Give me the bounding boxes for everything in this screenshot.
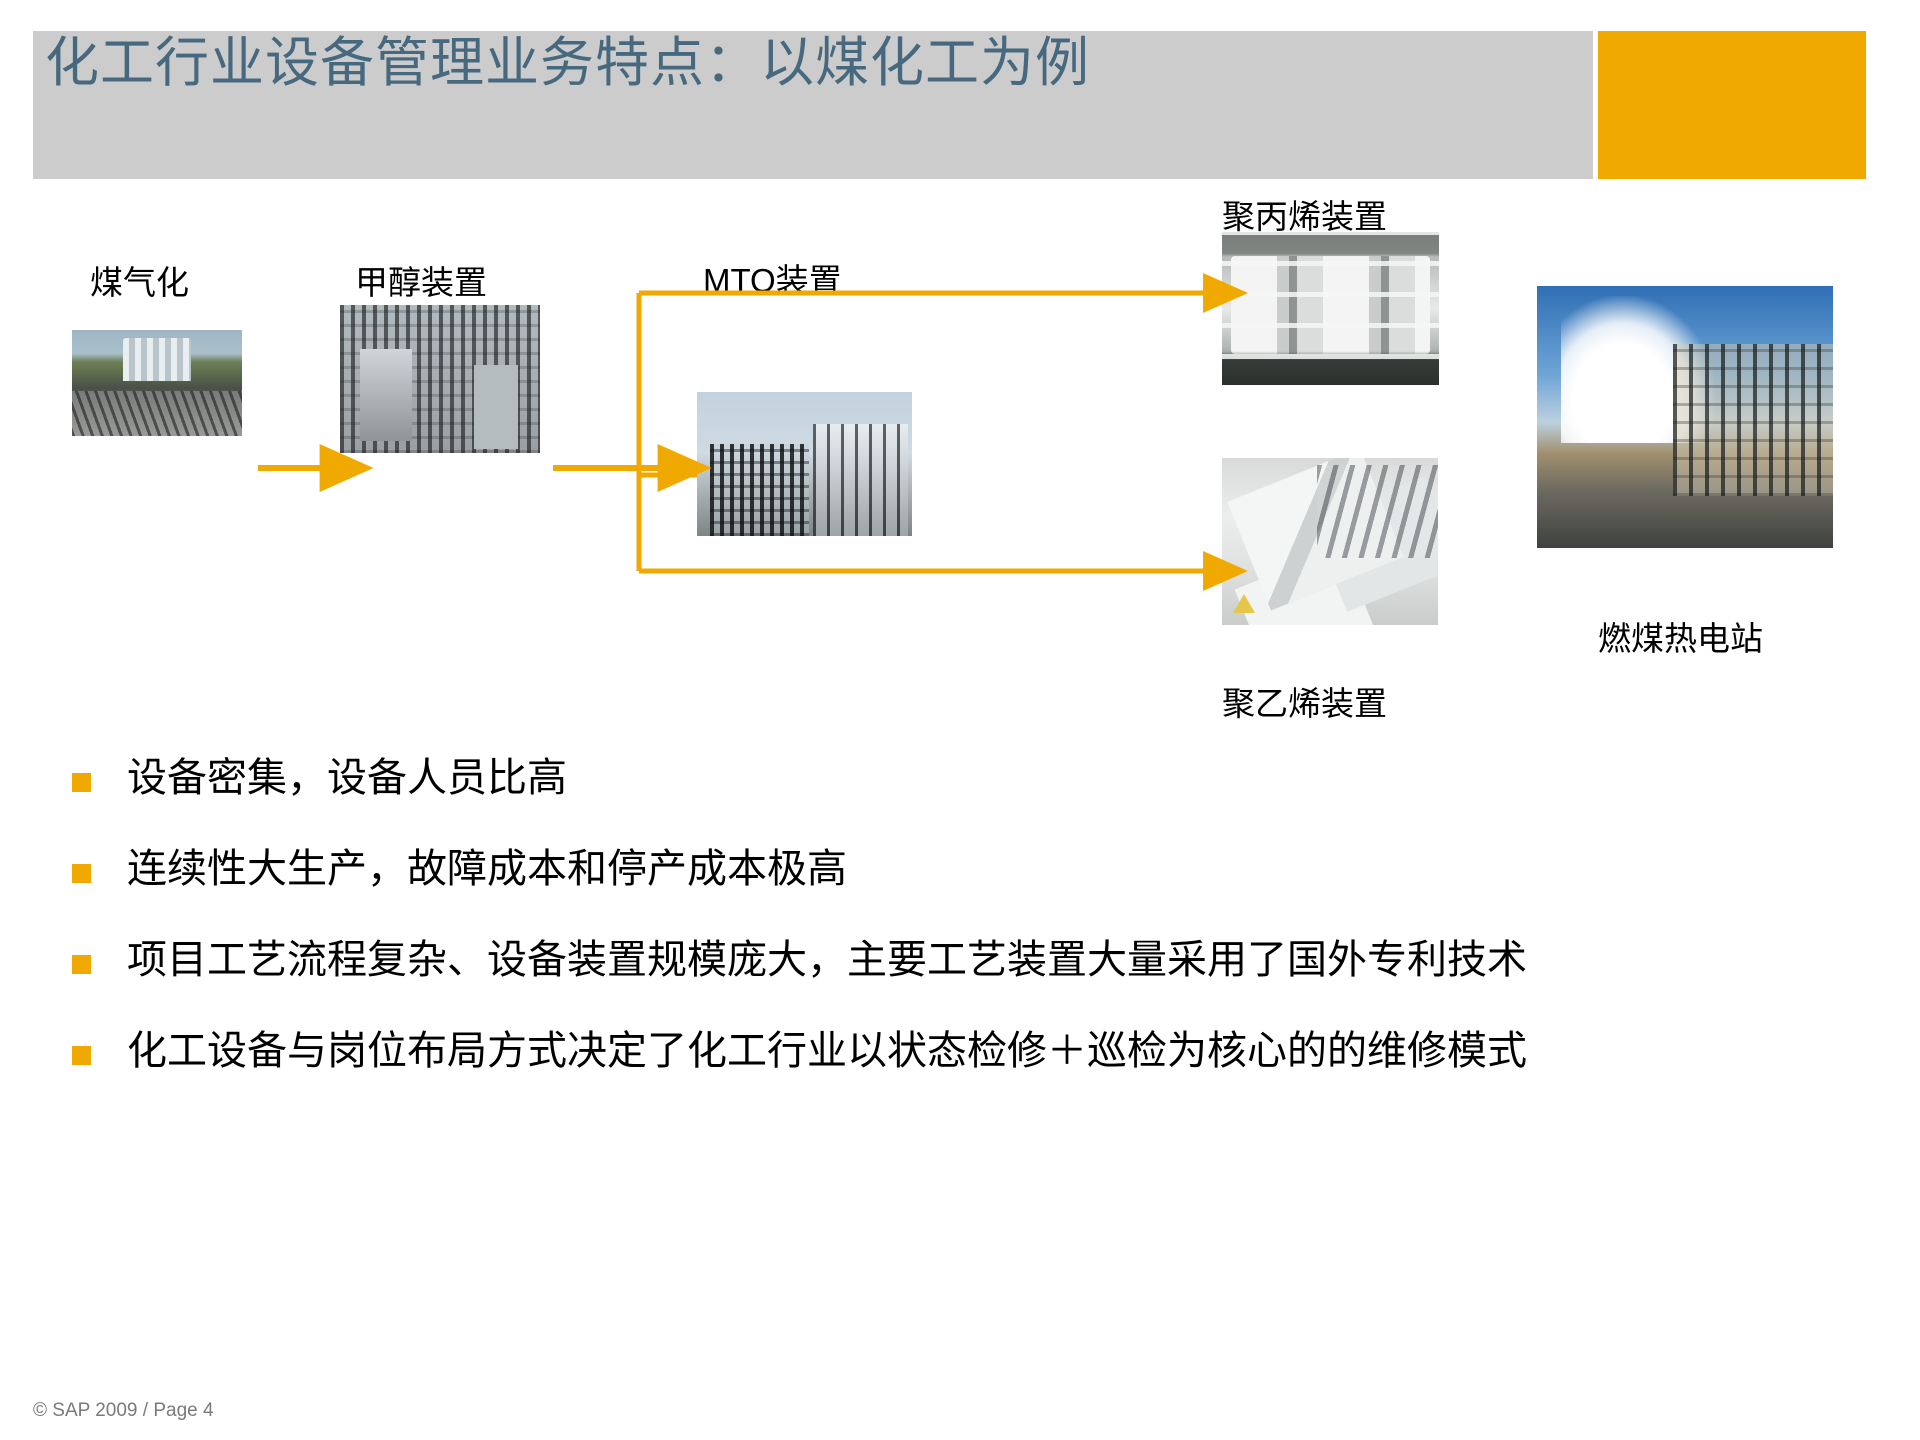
label-coal-gasification: 煤气化 [90, 256, 189, 304]
brand-block: SAP ® [1598, 31, 1866, 179]
label-methanol-unit: 甲醇装置 [355, 256, 487, 304]
bullet-item-4: 化工设备与岗位布局方式决定了化工行业以状态检修＋巡检为核心的的维修模式 [72, 1028, 1872, 1074]
label-polypropylene-unit: 聚丙烯装置 [1222, 190, 1387, 238]
label-coal-power-plant: 燃煤热电站 [1598, 612, 1763, 660]
bullet-item-2: 连续性大生产，故障成本和停产成本极高 [72, 846, 1872, 892]
bullet-item-3: 项目工艺流程复杂、设备装置规模庞大，主要工艺装置大量采用了国外专利技术 [72, 937, 1872, 983]
label-polyethylene-unit: 聚乙烯装置 [1222, 677, 1387, 725]
bullet-square-icon [72, 773, 91, 792]
warning-triangle-icon [1233, 594, 1255, 613]
process-flow-diagram: 煤气化 甲醇装置 MTO装置 聚丙烯装置 聚乙烯装置 燃煤热电站 [0, 180, 1920, 610]
bullet-list: 设备密集，设备人员比高 连续性大生产，故障成本和停产成本极高 项目工艺流程复杂、… [72, 755, 1872, 1119]
footer-copyright: © SAP 2009 / Page 4 [33, 1400, 214, 1422]
photo-mto-unit [697, 392, 912, 536]
photo-methanol-unit [340, 305, 540, 453]
slide-canvas: 化工行业设备管理业务特点：以煤化工为例 SAP ® 煤气化 甲醇装置 MTO装置… [0, 0, 1920, 1440]
bullet-text-1: 设备密集，设备人员比高 [127, 755, 567, 801]
bullet-square-icon [72, 864, 91, 883]
bullet-text-3: 项目工艺流程复杂、设备装置规模庞大，主要工艺装置大量采用了国外专利技术 [127, 937, 1527, 983]
photo-coal-power-plant [1537, 286, 1833, 548]
photo-polyethylene-unit [1222, 458, 1438, 625]
bullet-item-1: 设备密集，设备人员比高 [72, 755, 1872, 801]
page-title: 化工行业设备管理业务特点：以煤化工为例 [45, 34, 1090, 93]
bullet-text-4: 化工设备与岗位布局方式决定了化工行业以状态检修＋巡检为核心的的维修模式 [127, 1028, 1527, 1074]
bullet-text-2: 连续性大生产，故障成本和停产成本极高 [127, 846, 847, 892]
photo-coal-gasification [72, 330, 242, 436]
bullet-square-icon [72, 955, 91, 974]
label-mto-unit: MTO装置 [703, 254, 842, 302]
bullet-square-icon [72, 1046, 91, 1065]
photo-polypropylene-unit [1222, 232, 1439, 385]
